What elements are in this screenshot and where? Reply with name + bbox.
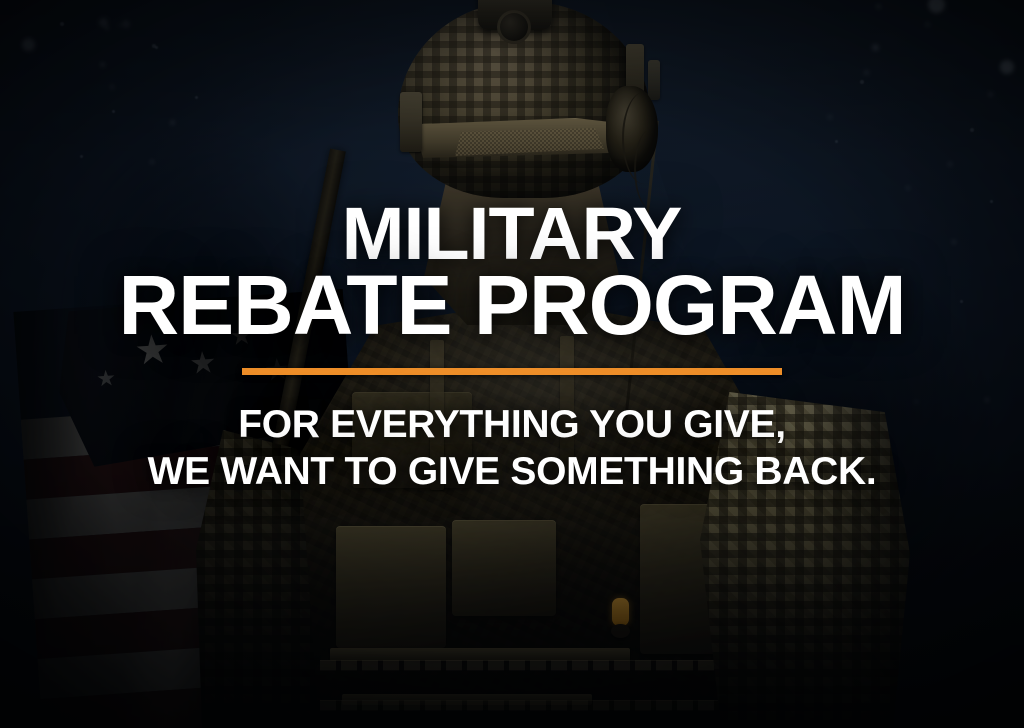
page-title: MILITARY REBATE PROGRAM [118,0,905,346]
headline-line-2: REBATE PROGRAM [118,265,905,346]
subheadline-line-2: WE WANT TO GIVE SOMETHING BACK. [148,448,877,496]
hero-text-block: MILITARY REBATE PROGRAM FOR EVERYTHING Y… [0,0,1024,728]
military-rebate-hero-banner: ★ ★ ★ ★ ★ [0,0,1024,728]
subheadline-line-1: FOR EVERYTHING YOU GIVE, [148,401,877,449]
subheadline: FOR EVERYTHING YOU GIVE, WE WANT TO GIVE… [148,401,877,496]
orange-divider [242,368,782,375]
